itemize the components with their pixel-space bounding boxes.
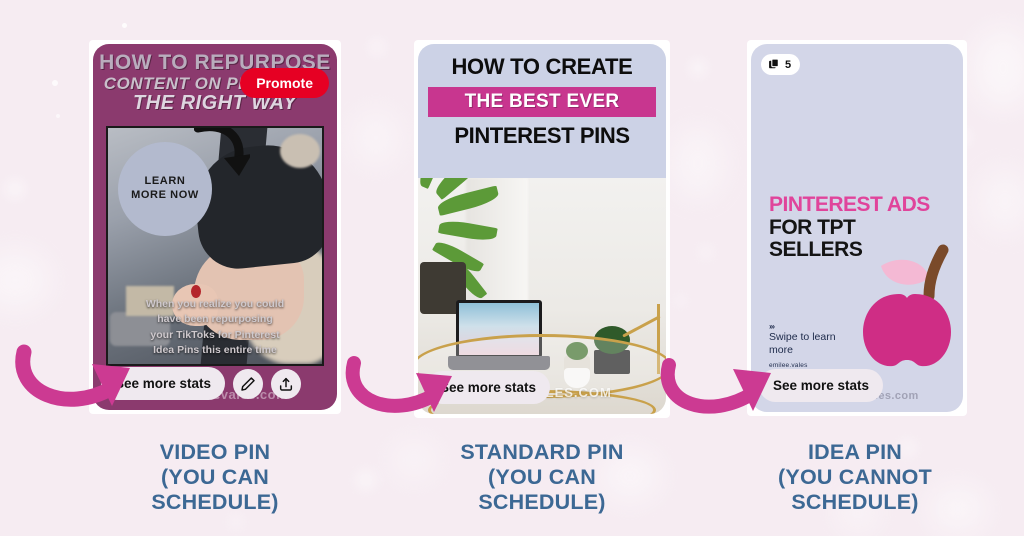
standard-pin-frame: EMILEEVALES.COM HOW TO CREATE THE BEST E…	[414, 40, 670, 418]
swipe-hint-text: Swipe to learn more	[769, 331, 836, 356]
pages-stack-icon	[768, 58, 781, 71]
idea-pin-title: PINTEREST ADS FOR TPT SELLERS	[769, 194, 930, 261]
idea-pin-actions: See more stats	[759, 369, 955, 402]
edit-icon-button[interactable]	[233, 369, 263, 399]
caption-line: (YOU CAN	[70, 465, 360, 490]
see-more-stats-button[interactable]: See more stats	[101, 367, 225, 400]
standard-pin-actions: See more stats	[426, 371, 658, 404]
caption-idea-pin: IDEA PIN (YOU CANNOT SCHEDULE)	[705, 440, 1005, 515]
video-pin-frame: HOW TO REPURPOSE CONTENT ON PINTEREST TH…	[89, 40, 341, 414]
video-pin-actions: See more stats	[101, 367, 329, 400]
see-more-stats-button[interactable]: See more stats	[759, 369, 883, 402]
pages-count-label: 5	[785, 59, 791, 71]
media-pompom	[280, 134, 320, 168]
idea-pin-frame: 5 PINTEREST ADS FOR TPT SELLERS ›››	[747, 40, 967, 416]
idea-pin-title-line-3: SELLERS	[769, 239, 930, 261]
promote-badge[interactable]: Promote	[240, 68, 329, 98]
caption-line: SCHEDULE)	[397, 490, 687, 515]
photo-cart-handle	[622, 315, 660, 337]
caption-video-pin: VIDEO PIN (YOU CAN SCHEDULE)	[70, 440, 360, 515]
share-icon-button[interactable]	[271, 369, 301, 399]
caption-standard-pin: STANDARD PIN (YOU CAN SCHEDULE)	[397, 440, 687, 515]
video-pin-overlay-caption: When you realize you could have been rep…	[114, 297, 316, 358]
share-upload-icon	[278, 376, 294, 392]
curved-down-arrow-icon	[194, 126, 250, 186]
caption-line: STANDARD PIN	[397, 440, 687, 465]
caption-line: IDEA PIN	[705, 440, 1005, 465]
idea-pin-swipe-hint: ››› Swipe to learn more	[769, 322, 836, 356]
caption-line: VIDEO PIN	[70, 440, 360, 465]
caption-line: SCHEDULE)	[70, 490, 360, 515]
standard-pin-header: HOW TO CREATE THE BEST EVER PINTEREST PI…	[418, 44, 666, 178]
screenshot-canvas: HOW TO REPURPOSE CONTENT ON PINTEREST TH…	[0, 0, 1024, 536]
standard-pin-title-band-text: THE BEST EVER	[428, 91, 656, 113]
caption-line: SCHEDULE)	[705, 490, 1005, 515]
idea-pin-handle: emilee.vales	[769, 362, 808, 369]
idea-pin-title-line-2: FOR TPT	[769, 217, 930, 239]
learn-more-label: LEARN MORE NOW	[131, 175, 199, 203]
video-pin-card[interactable]: HOW TO REPURPOSE CONTENT ON PINTEREST TH…	[93, 44, 337, 410]
caption-line: (YOU CAN	[397, 465, 687, 490]
standard-pin-title-band: THE BEST EVER	[428, 87, 656, 117]
video-pin-column: HOW TO REPURPOSE CONTENT ON PINTEREST TH…	[70, 40, 360, 414]
pages-count-badge: 5	[761, 54, 800, 75]
standard-pin-title-line-3: PINTEREST PINS	[426, 123, 658, 149]
video-pin-media: LEARN MORE NOW When you realize you coul…	[106, 126, 324, 366]
caption-line: (YOU CANNOT	[705, 465, 1005, 490]
idea-pin-column: 5 PINTEREST ADS FOR TPT SELLERS ›››	[712, 40, 1002, 416]
idea-pin-card[interactable]: 5 PINTEREST ADS FOR TPT SELLERS ›››	[751, 44, 963, 412]
idea-pin-title-line-1: PINTEREST ADS	[769, 194, 930, 215]
standard-pin-column: EMILEEVALES.COM HOW TO CREATE THE BEST E…	[397, 40, 687, 418]
see-more-stats-button[interactable]: See more stats	[426, 371, 550, 404]
standard-pin-title-line-1: HOW TO CREATE	[426, 54, 658, 80]
swipe-chevrons-icon: ›››	[769, 322, 836, 331]
pencil-icon	[240, 376, 256, 392]
standard-pin-card[interactable]: EMILEEVALES.COM HOW TO CREATE THE BEST E…	[418, 44, 666, 414]
